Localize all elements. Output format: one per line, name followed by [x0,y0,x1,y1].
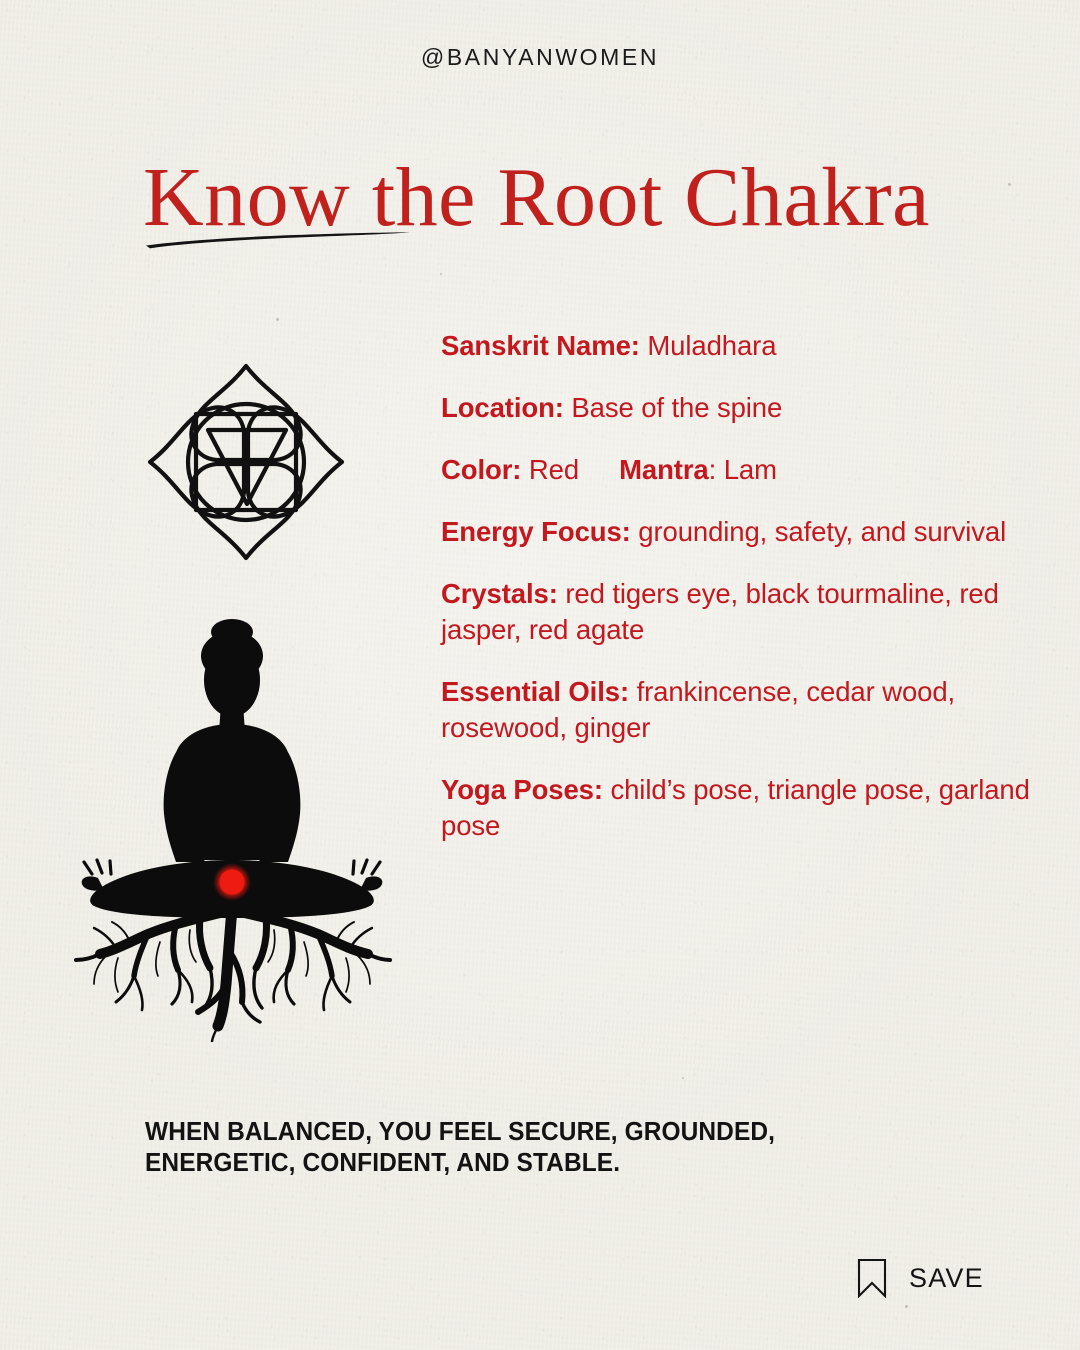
info-value-secondary: : Lam [709,454,777,485]
account-handle: @BANYANWOMEN [0,44,1080,71]
meditation-figure-illustration [72,612,392,1042]
paper-speck [682,1077,684,1079]
save-label: SAVE [909,1263,984,1294]
paper-speck [276,318,279,321]
info-label-secondary: Mantra [619,454,709,485]
paper-speck [1008,183,1011,186]
info-label: Color: [441,454,521,485]
info-label: Yoga Poses: [441,774,603,805]
info-row-energy-focus: Energy Focus: grounding, safety, and sur… [441,514,1041,550]
info-value: Muladhara [640,330,777,361]
info-value: grounding, safety, and survival [631,516,1006,547]
chakra-info-list: Sanskrit Name: Muladhara Location: Base … [441,328,1041,844]
muladhara-chakra-symbol-icon [140,356,352,568]
info-label: Sanskrit Name: [441,330,640,361]
info-label: Essential Oils: [441,676,629,707]
post-canvas: @BANYANWOMEN Know the Root Chakra [0,0,1080,1350]
info-row-crystals: Crystals: red tigers eye, black tourmali… [441,576,1041,648]
save-button[interactable]: SAVE [857,1258,984,1298]
info-value: Red [521,454,579,485]
info-value: Base of the spine [564,392,782,423]
bookmark-icon[interactable] [857,1258,887,1298]
closing-statement: WHEN BALANCED, YOU FEEL SECURE, GROUNDED… [145,1117,875,1179]
paper-speck [905,1305,908,1308]
title-underline-stroke [144,228,414,250]
info-row-yoga-poses: Yoga Poses: child’s pose, triangle pose,… [441,772,1041,844]
info-label: Energy Focus: [441,516,631,547]
info-row-sanskrit-name: Sanskrit Name: Muladhara [441,328,1041,364]
info-row-color-mantra: Color: RedMantra: Lam [441,452,1041,488]
info-row-location: Location: Base of the spine [441,390,1041,426]
paper-speck [440,273,442,275]
info-label: Location: [441,392,564,423]
info-label: Crystals: [441,578,558,609]
info-row-essential-oils: Essential Oils: frankincense, cedar wood… [441,674,1041,746]
tree-roots [76,908,390,1042]
